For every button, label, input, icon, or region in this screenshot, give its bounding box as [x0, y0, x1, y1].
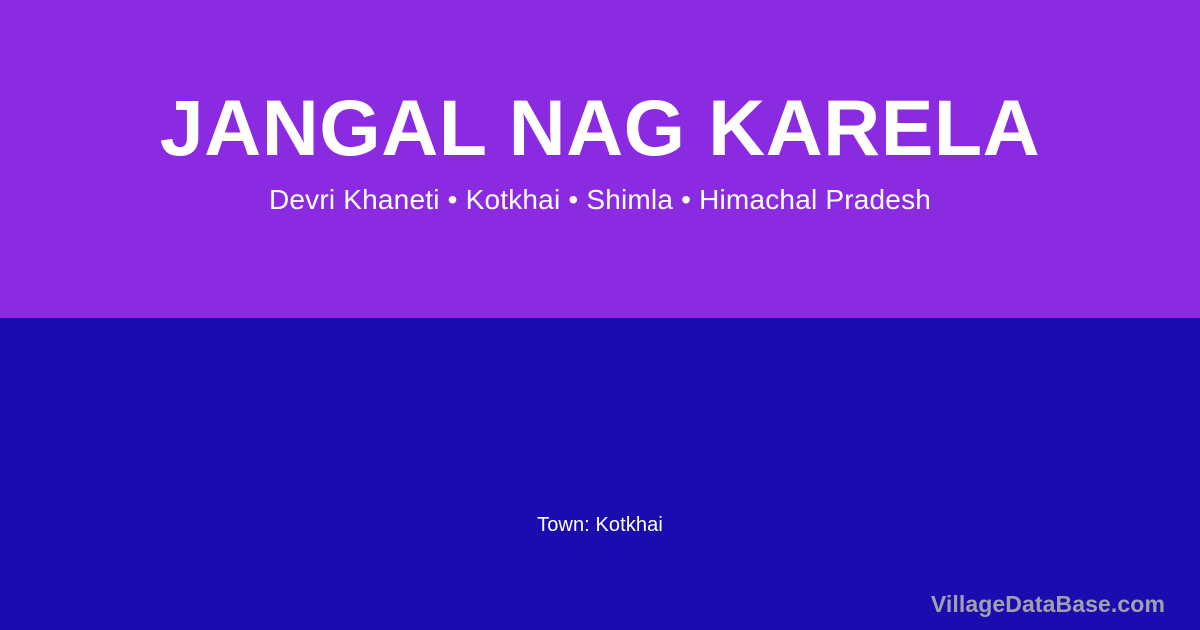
page-title: JANGAL NAG KARELA [0, 80, 1200, 176]
breadcrumb: Devri Khaneti • Kotkhai • Shimla • Himac… [0, 181, 1200, 219]
village-info-card: JANGAL NAG KARELA Devri Khaneti • Kotkha… [0, 0, 1200, 630]
site-watermark: VillageDataBase.com [931, 590, 1165, 618]
body-area: Town: Kotkhai [0, 318, 1200, 630]
town-detail-line: Town: Kotkhai [0, 512, 1200, 538]
header-band: JANGAL NAG KARELA Devri Khaneti • Kotkha… [0, 0, 1200, 318]
